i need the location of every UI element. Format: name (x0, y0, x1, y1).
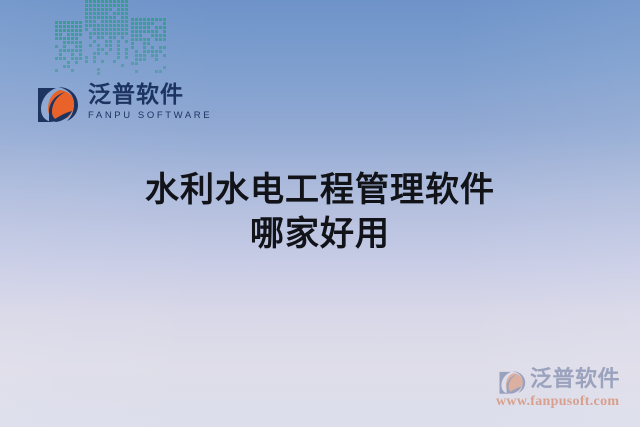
watermark: 泛普软件 www.fanpusoft.com (494, 365, 634, 415)
watermark-url: www.fanpusoft.com (496, 393, 619, 410)
brand-name-cn: 泛普软件 (88, 80, 212, 108)
brand-logo: 泛普软件 FANPU SOFTWARE (36, 80, 196, 132)
watermark-logo-mark-icon (498, 368, 528, 395)
headline-line-2: 哪家好用 (0, 212, 640, 256)
brand-name-en: FANPU SOFTWARE (88, 109, 212, 122)
headline-line-1: 水利水电工程管理软件 (0, 168, 640, 212)
brand-logo-text: 泛普软件 FANPU SOFTWARE (88, 80, 212, 122)
headline: 水利水电工程管理软件 哪家好用 (0, 168, 640, 256)
promo-banner: 泛普软件 FANPU SOFTWARE 水利水电工程管理软件 哪家好用 泛普软件… (0, 0, 640, 427)
watermark-brand-name: 泛普软件 (530, 365, 620, 393)
fanpu-logo-mark-icon (36, 82, 82, 124)
pixel-matrix-decoration (55, 0, 160, 80)
